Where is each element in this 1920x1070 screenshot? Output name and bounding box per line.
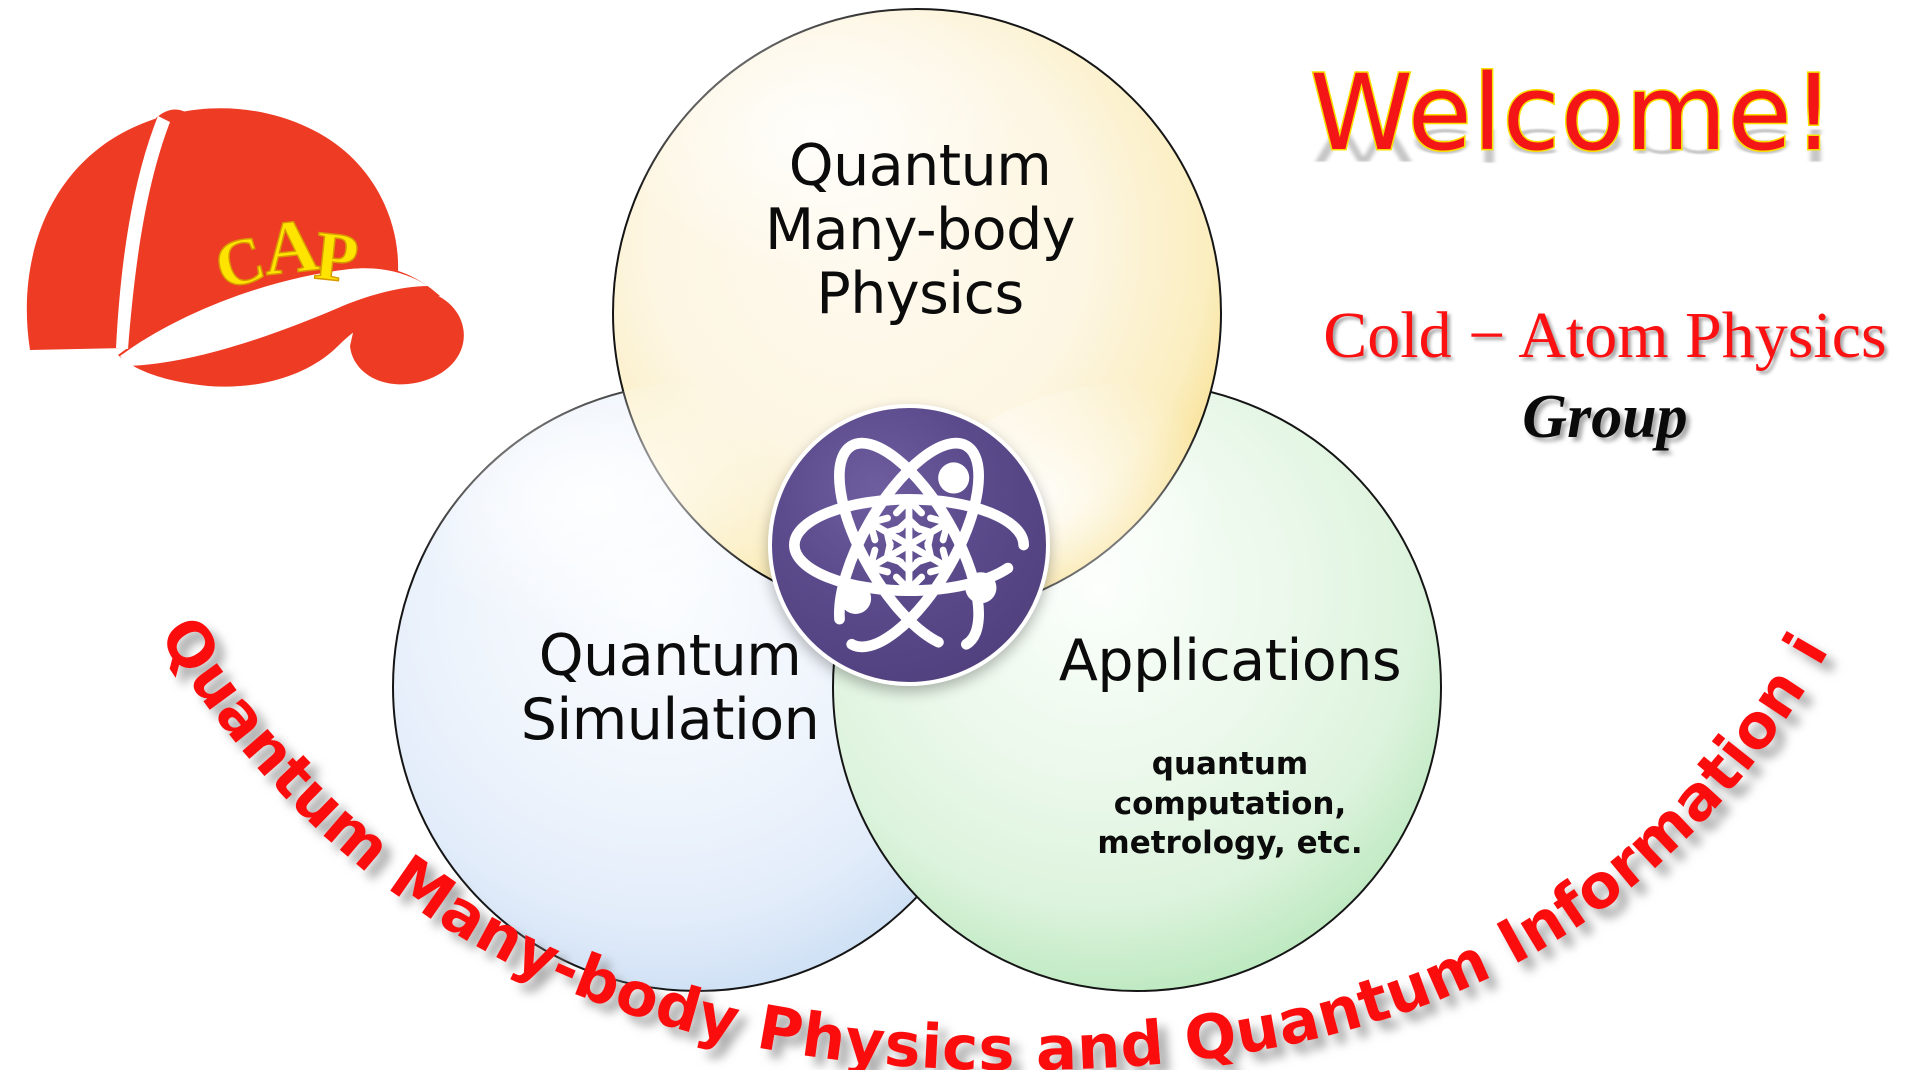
cap-side-piece-shape <box>350 289 464 385</box>
welcome-heading-group: Welcome! Welcome! <box>1310 52 1910 282</box>
group-title-line-2: Group <box>1300 382 1910 453</box>
welcome-heading: Welcome! <box>1310 52 1835 174</box>
venn-label-line: Physics <box>700 263 1140 327</box>
caption-arc: Quantum Many-body Physics and Quantum In… <box>60 600 1880 1070</box>
svg-text:P: P <box>311 217 362 298</box>
slide-canvas: Quantum Many-body Physics Quantum Simula… <box>0 0 1920 1070</box>
venn-label-line: Quantum <box>700 135 1140 199</box>
venn-label-quantum-many-body-physics: Quantum Many-body Physics <box>700 135 1140 326</box>
venn-label-line: Many-body <box>700 199 1140 263</box>
cap-logo[interactable]: C A P <box>8 60 508 390</box>
caption-arc-text: Quantum Many-body Physics and Quantum In… <box>28 544 1843 1070</box>
group-title-line-1: Cold − Atom Physics <box>1300 298 1910 374</box>
